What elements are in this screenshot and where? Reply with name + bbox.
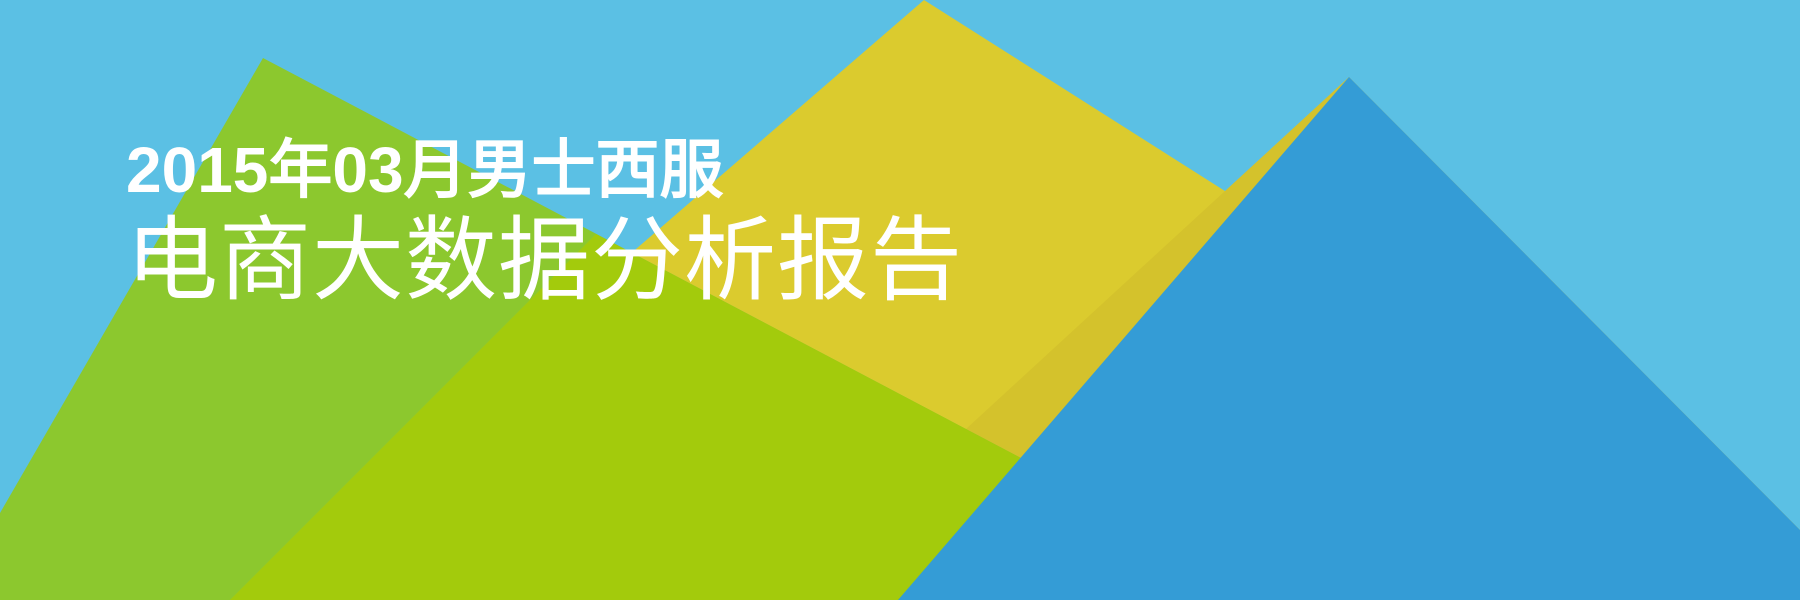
report-cover-banner: 2015年03月男士西服 电商大数据分析报告 — [0, 0, 1800, 600]
background-geometric-artwork — [0, 0, 1800, 600]
